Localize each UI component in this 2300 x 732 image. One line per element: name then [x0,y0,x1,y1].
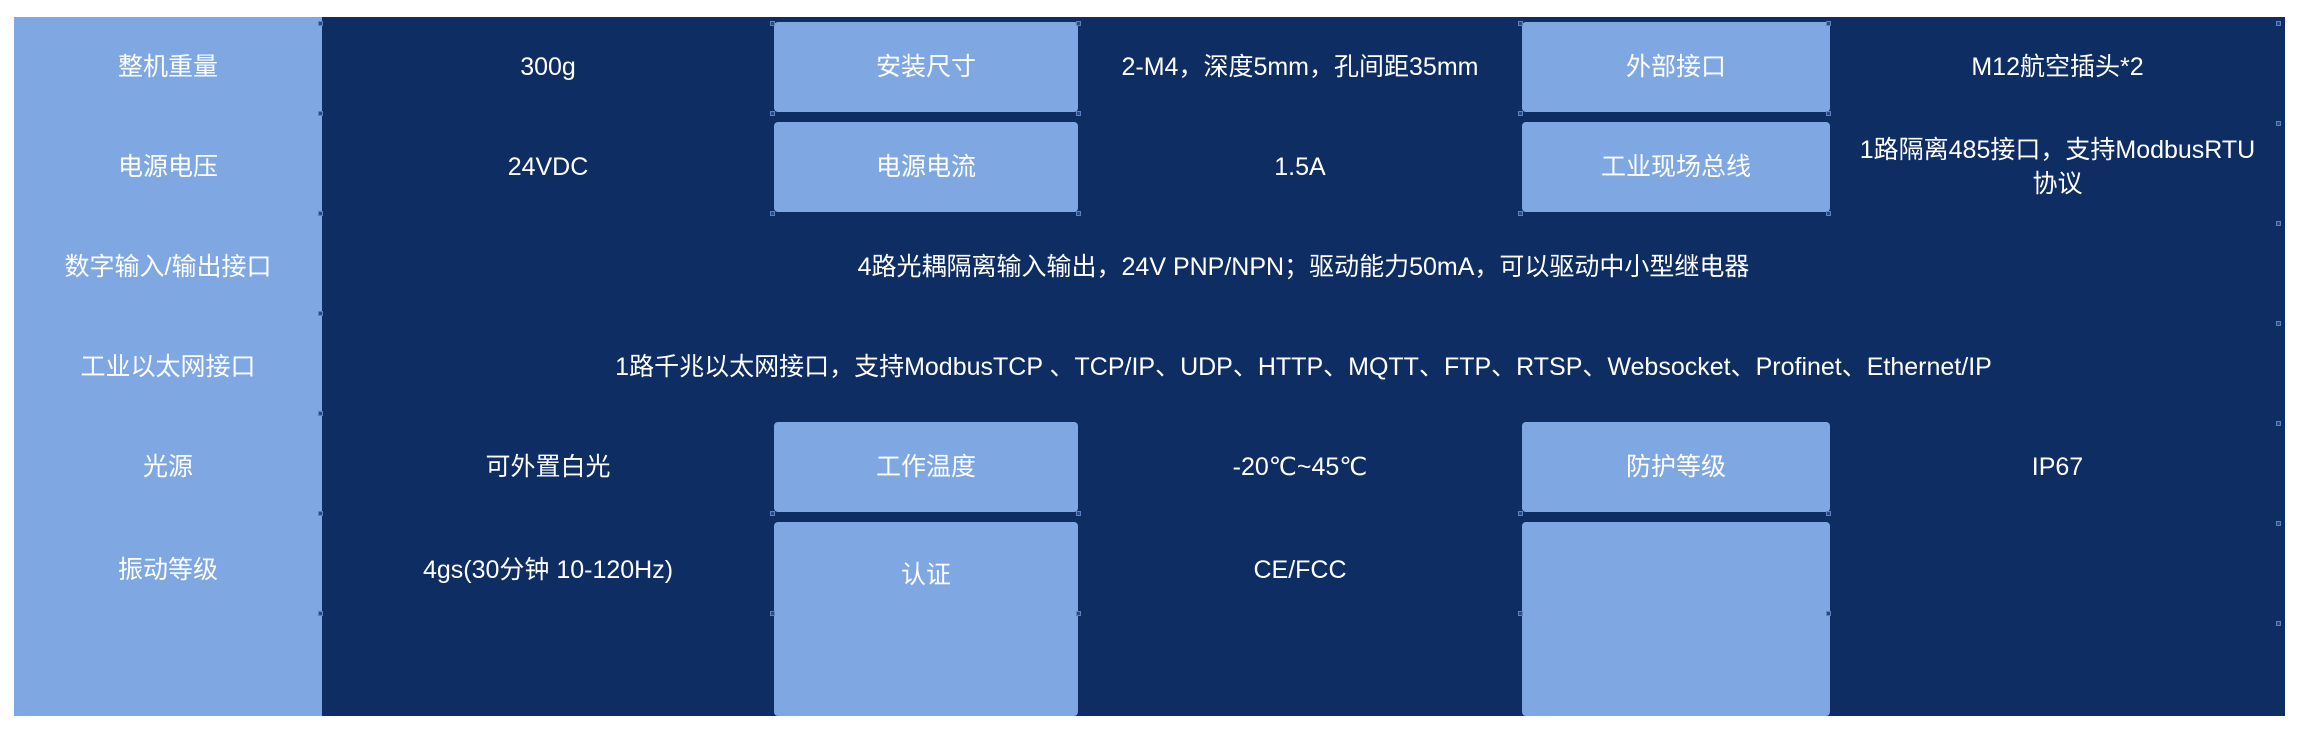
row-value-2: 2-M4，深度5mm，孔间距35mm [1078,17,1522,117]
row-value-3 [1830,517,2285,716]
row-value-3: IP67 [1830,417,2285,517]
row-key-2: 工作温度 [774,417,1078,517]
row-value-1: 24VDC [322,117,774,217]
table-row: 工业以太网接口 1路千兆以太网接口，支持ModbusTCP 、TCP/IP、UD… [14,317,2285,417]
row-label: 工业以太网接口 [14,317,322,417]
row-wide-value: 4路光耦隔离输入输出，24V PNP/NPN；驱动能力50mA，可以驱动中小型继… [322,217,2285,317]
table-row: 电源电压 24VDC 电源电流 1.5A 工业现场总线 1路隔离485接口，支持… [14,117,2285,217]
row-value-1: 4gs(30分钟 10-120Hz) [322,517,774,716]
row-value-2: -20℃~45℃ [1078,417,1522,517]
row-value-3: M12航空插头*2 [1830,17,2285,117]
row-label: 电源电压 [14,117,322,217]
row-label: 振动等级 [14,517,322,716]
row-label: 整机重量 [14,17,322,117]
row-value-2: CE/FCC [1078,517,1522,716]
row-value-1: 可外置白光 [322,417,774,517]
row-label: 光源 [14,417,322,517]
row-key-3 [1522,517,1830,716]
row-value-2: 1.5A [1078,117,1522,217]
table-row: 光源 可外置白光 工作温度 -20℃~45℃ 防护等级 IP67 [14,417,2285,517]
key-tile: 工业现场总线 [1522,122,1830,212]
row-label: 数字输入/输出接口 [14,217,322,317]
row-key-3: 防护等级 [1522,417,1830,517]
table-row: 振动等级 4gs(30分钟 10-120Hz) 认证 CE/FCC [14,517,2285,716]
row-key-2: 认证 [774,517,1078,716]
table-rows: 整机重量 300g 安装尺寸 2-M4，深度5mm，孔间距35mm 外部接口 M… [14,17,2285,716]
key-tile: 认证 [774,522,1078,716]
row-key-3: 外部接口 [1522,17,1830,117]
screenshot-stage: 整机重量 300g 安装尺寸 2-M4，深度5mm，孔间距35mm 外部接口 M… [0,0,2300,732]
row-key-2: 安装尺寸 [774,17,1078,117]
key-tile: 外部接口 [1522,22,1830,112]
table-row: 数字输入/输出接口 4路光耦隔离输入输出，24V PNP/NPN；驱动能力50m… [14,217,2285,317]
row-key-3: 工业现场总线 [1522,117,1830,217]
key-tile: 电源电流 [774,122,1078,212]
row-value-1: 300g [322,17,774,117]
key-tile: 安装尺寸 [774,22,1078,112]
key-tile [1522,522,1830,716]
row-value-3: 1路隔离485接口，支持ModbusRTU协议 [1830,117,2285,217]
row-key-2: 电源电流 [774,117,1078,217]
row-wide-value: 1路千兆以太网接口，支持ModbusTCP 、TCP/IP、UDP、HTTP、M… [322,317,2285,417]
key-tile: 工作温度 [774,422,1078,512]
table-row: 整机重量 300g 安装尺寸 2-M4，深度5mm，孔间距35mm 外部接口 M… [14,17,2285,117]
specification-table: 整机重量 300g 安装尺寸 2-M4，深度5mm，孔间距35mm 外部接口 M… [14,17,2285,716]
key-tile: 防护等级 [1522,422,1830,512]
